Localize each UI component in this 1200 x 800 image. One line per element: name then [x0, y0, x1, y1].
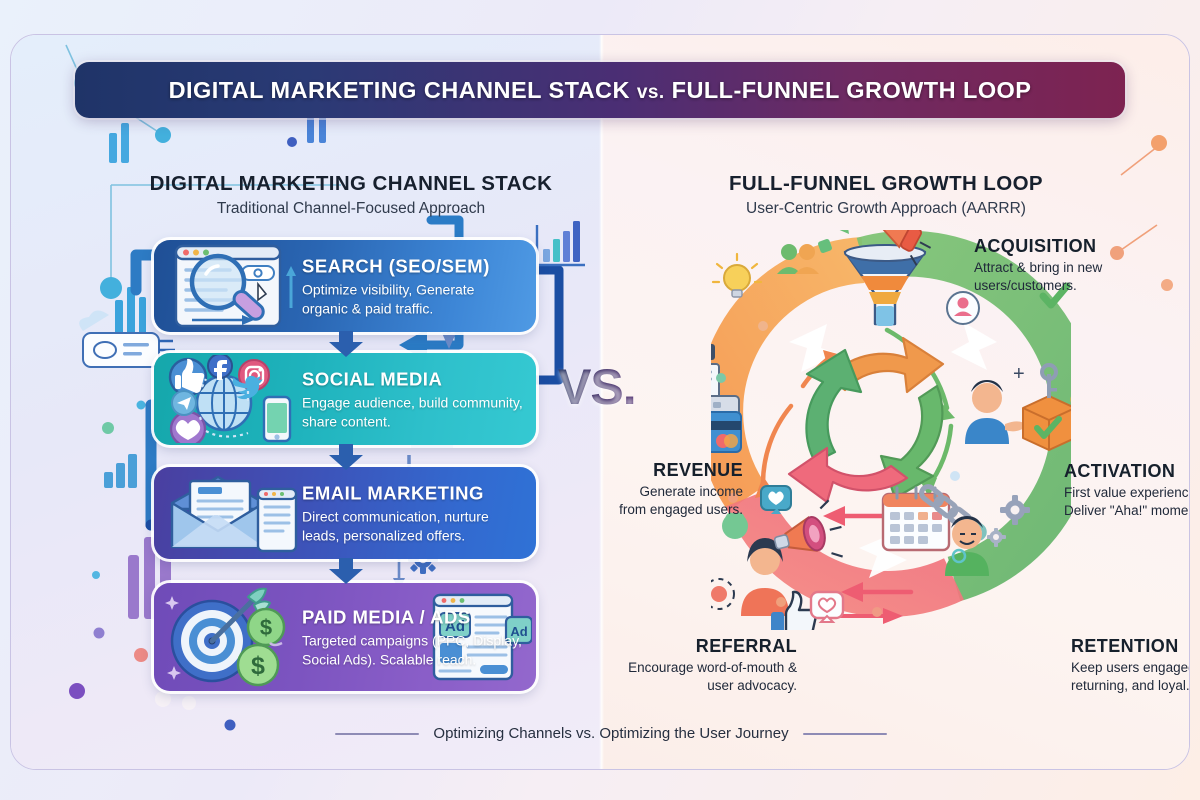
stage-title-revenue: REVENUE	[611, 459, 743, 482]
stage-title-retention: RETENTION	[1071, 635, 1190, 658]
left-column-header: DIGITAL MARKETING CHANNEL STACK Traditio…	[101, 171, 601, 220]
footer-rule-left	[335, 733, 419, 735]
stage-title-activation: ACTIVATION	[1064, 460, 1190, 483]
loop-stage-referral: REFERRAL Encourage word-of-mouth & user …	[611, 635, 797, 694]
left-subheading: Traditional Channel-Focused Approach	[101, 198, 601, 220]
title-part-a: DIGITAL MARKETING CHANNEL STACK	[169, 77, 637, 103]
svg-text:$: $	[251, 652, 265, 680]
infographic-canvas: +	[0, 0, 1200, 800]
right-column-header: FULL-FUNNEL GROWTH LOOP User-Centric Gro…	[636, 171, 1136, 220]
globe-social-icons	[162, 355, 300, 443]
footer-caption-row: Optimizing Channels vs. Optimizing the U…	[11, 725, 1190, 742]
channel-title-search: SEARCH (SEO/SEM)	[302, 255, 524, 279]
channel-card-email-marketing[interactable]: EMAIL MARKETING Direct communication, nu…	[154, 467, 536, 559]
flow-arrow-social-to-email	[329, 444, 363, 470]
stage-desc-activation: First value experience. Deliver "Aha!" m…	[1064, 484, 1190, 519]
channel-title-social: SOCIAL MEDIA	[302, 368, 524, 392]
main-title: DIGITAL MARKETING CHANNEL STACK vs. FULL…	[169, 77, 1032, 104]
right-heading: FULL-FUNNEL GROWTH LOOP	[636, 171, 1136, 197]
target-dartboard-coins-icon: $ $	[162, 587, 300, 687]
footer-caption: Optimizing Channels vs. Optimizing the U…	[433, 725, 788, 742]
channel-desc-paid: Targeted campaigns (PPC, Display, Social…	[302, 632, 524, 669]
channel-desc-email: Direct communication, nurture leads, per…	[302, 508, 524, 545]
channel-title-paid: PAID MEDIA / ADS	[302, 606, 524, 630]
magnifier-browser-icon	[162, 242, 300, 330]
stage-desc-retention: Keep users engaged, returning, and loyal…	[1071, 659, 1190, 694]
flow-arrow-search-to-social	[329, 331, 363, 357]
loop-stage-acquisition: ACQUISITION Attract & bring in new users…	[974, 235, 1184, 294]
left-heading: DIGITAL MARKETING CHANNEL STACK	[101, 171, 601, 197]
channel-card-social-media[interactable]: SOCIAL MEDIA Engage audience, build comm…	[154, 353, 536, 445]
channel-desc-search: Optimize visibility, Generate organic & …	[302, 281, 524, 318]
loop-stage-retention: RETENTION Keep users engaged, returning,…	[1071, 635, 1190, 694]
loop-stage-revenue: REVENUE Generate income from engaged use…	[611, 459, 743, 518]
footer-rule-right	[803, 733, 887, 735]
channel-text-email: EMAIL MARKETING Direct communication, nu…	[302, 482, 524, 545]
stage-title-acquisition: ACQUISITION	[974, 235, 1184, 258]
channel-card-paid-media[interactable]: $ $ Ad	[154, 583, 536, 691]
channel-desc-social: Engage audience, build community, share …	[302, 394, 524, 431]
svg-text:+: +	[1013, 363, 1025, 385]
stage-desc-acquisition: Attract & bring in new users/customers.	[974, 259, 1184, 294]
channel-text-search: SEARCH (SEO/SEM) Optimize visibility, Ge…	[302, 255, 524, 318]
stage-desc-referral: Encourage word-of-mouth & user advocacy.	[611, 659, 797, 694]
main-title-bar: DIGITAL MARKETING CHANNEL STACK vs. FULL…	[75, 62, 1125, 118]
vs-divider-label: VS.	[558, 358, 636, 416]
channel-text-social: SOCIAL MEDIA Engage audience, build comm…	[302, 368, 524, 431]
channel-card-search[interactable]: SEARCH (SEO/SEM) Optimize visibility, Ge…	[154, 240, 536, 332]
svg-text:$: $	[260, 615, 272, 640]
channel-text-paid: PAID MEDIA / ADS Targeted campaigns (PPC…	[302, 606, 524, 669]
title-vs: vs.	[637, 82, 665, 103]
title-part-b: FULL-FUNNEL GROWTH LOOP	[665, 77, 1032, 103]
flow-arrow-email-to-paid	[329, 558, 363, 584]
right-subheading: User-Centric Growth Approach (AARRR)	[636, 198, 1136, 220]
envelope-icon	[162, 469, 300, 557]
loop-stage-activation: ACTIVATION First value experience. Deliv…	[1064, 460, 1190, 519]
stage-title-referral: REFERRAL	[611, 635, 797, 658]
channel-title-email: EMAIL MARKETING	[302, 482, 524, 506]
up-tick-icon	[286, 266, 296, 308]
stage-desc-revenue: Generate income from engaged users.	[611, 483, 743, 518]
